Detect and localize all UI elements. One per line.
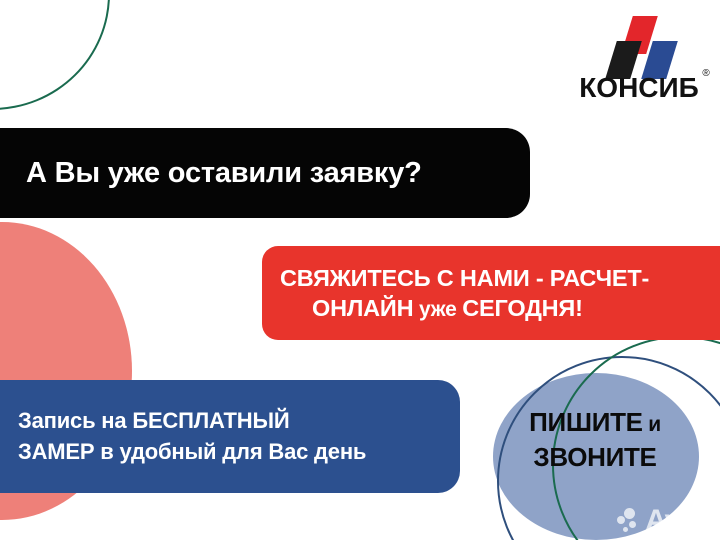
avito-watermark-text: Avito xyxy=(645,506,714,536)
call-to-action-line-1-thin: и xyxy=(643,413,661,436)
logo-wordmark: КОНСИБ ® xyxy=(579,74,699,102)
blue-offer-line-1: Запись на БЕСПЛАТНЫЙ xyxy=(18,406,460,437)
red-offer-box: СВЯЖИТЕСЬ С НАМИ - РАСЧЕТ- ОНЛАЙН уже СЕ… xyxy=(262,246,720,340)
avito-dots-icon xyxy=(617,508,643,534)
logo-wordmark-text: КОНСИБ xyxy=(579,72,699,103)
call-to-action-text: ПИШИТЕ и ЗВОНИТЕ xyxy=(495,405,695,474)
green-circle-outline-top-left xyxy=(0,0,110,110)
call-to-action-line-2: ЗВОНИТЕ xyxy=(495,440,695,475)
logo-mark-icon xyxy=(591,16,687,72)
call-to-action-line-1-strong: ПИШИТЕ xyxy=(529,407,643,437)
promo-banner: КОНСИБ ® А Вы уже оставили заявку? СВЯЖИ… xyxy=(0,0,720,540)
registered-trademark-icon: ® xyxy=(702,69,709,79)
red-offer-line-2-strong-a: ОНЛАЙН xyxy=(312,295,413,321)
call-to-action-line-1: ПИШИТЕ и xyxy=(495,405,695,440)
red-offer-line-2: ОНЛАЙН уже СЕГОДНЯ! xyxy=(280,293,720,324)
red-offer-line-1: СВЯЖИТЕСЬ С НАМИ - РАСЧЕТ- xyxy=(280,263,720,293)
brand-logo: КОНСИБ ® xyxy=(572,16,706,102)
blue-offer-box: Запись на БЕСПЛАТНЫЙ ЗАМЕР в удобный для… xyxy=(0,380,460,493)
headline-banner: А Вы уже оставили заявку? xyxy=(0,128,530,218)
avito-watermark: Avito xyxy=(617,506,714,536)
red-offer-line-2-thin: уже xyxy=(413,298,462,321)
red-offer-line-2-strong-b: СЕГОДНЯ! xyxy=(462,295,582,321)
headline-text: А Вы уже оставили заявку? xyxy=(0,157,422,190)
blue-offer-line-2: ЗАМЕР в удобный для Вас день xyxy=(18,437,460,468)
